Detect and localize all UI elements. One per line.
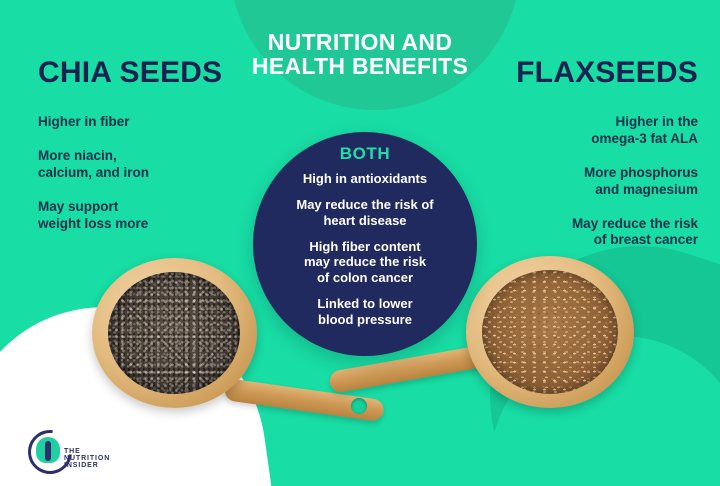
logo-line-3: INSIDER: [64, 462, 110, 469]
right-column-item-3: May reduce the riskof breast cancer: [468, 216, 698, 250]
infographic-canvas: NUTRITION AND HEALTH BENEFITS CHIA SEEDS…: [0, 0, 720, 486]
logo-monogram-icon: [28, 430, 68, 470]
right-column-item-1: Higher in theomega-3 fat ALA: [468, 114, 698, 148]
chia-seeds: [108, 272, 240, 394]
left-column-item-3: May supportweight loss more: [38, 199, 268, 233]
left-column: CHIA SEEDS Higher in fiber More niacin,c…: [38, 58, 268, 232]
spoon-pivot-hole: [351, 398, 367, 414]
flaxseeds: [482, 270, 618, 394]
left-column-item-1: Higher in fiber: [38, 114, 268, 131]
logo-leaf-icon: [36, 437, 60, 463]
both-item-1: High in antioxidants: [303, 171, 427, 187]
right-column-item-2: More phosphorusand magnesium: [468, 165, 698, 199]
brand-logo: THE NUTRITION INSIDER: [28, 430, 110, 470]
left-column-heading: CHIA SEEDS: [38, 58, 268, 88]
both-circle: BOTH High in antioxidants May reduce the…: [253, 132, 477, 356]
left-column-item-2: More niacin,calcium, and iron: [38, 148, 268, 182]
both-item-3: High fiber contentmay reduce the riskof …: [304, 239, 426, 287]
page-title: NUTRITION AND HEALTH BENEFITS: [245, 30, 475, 79]
both-label: BOTH: [340, 144, 391, 164]
right-column-heading: FLAXSEEDS: [468, 58, 698, 88]
both-item-4: Linked to lowerblood pressure: [317, 296, 412, 328]
right-column: FLAXSEEDS Higher in theomega-3 fat ALA M…: [468, 58, 698, 249]
both-item-2: May reduce the risk ofheart disease: [296, 197, 433, 229]
